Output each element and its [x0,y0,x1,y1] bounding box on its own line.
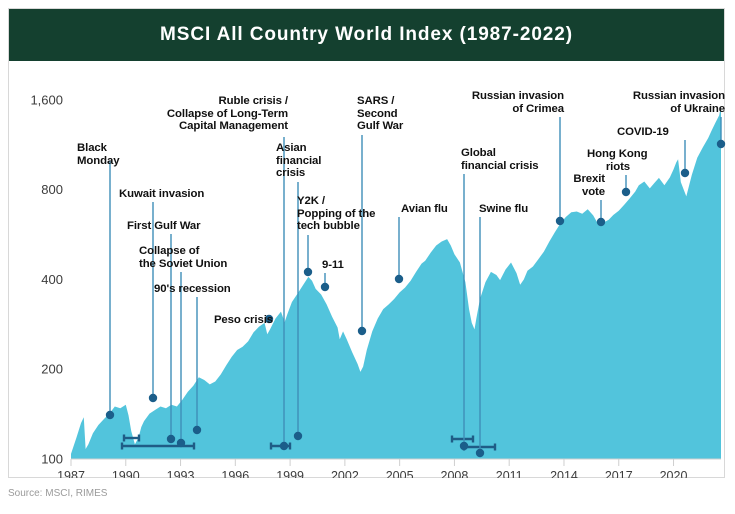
chart-card: MSCI All Country World Index (1987-2022)… [8,8,725,478]
annotation-label: 9-11 [322,259,344,272]
annotation-label: Kuwait invasion [119,188,204,201]
x-tick-label: 1996 [221,469,249,478]
x-tick-label: 2005 [386,469,414,478]
annotation-label: Collapse of the Soviet Union [139,245,227,270]
annotation-label: 90's recession [154,283,231,296]
event-marker-dot[interactable] [193,426,201,434]
x-tick-label: 2008 [441,469,469,478]
x-tick-label: 2011 [496,469,523,478]
x-tick-label: 1987 [57,469,85,478]
event-marker-dot[interactable] [167,435,175,443]
x-axis-tick-labels: 1987199019931996199920022005200820112014… [57,469,687,478]
event-marker-dot[interactable] [622,188,630,196]
event-marker-dot[interactable] [717,140,725,148]
annotation-label: Russian invasion of Crimea [449,90,564,115]
x-tick-label: 1993 [167,469,195,478]
chart-page: MSCI All Country World Index (1987-2022)… [0,0,735,514]
event-marker-dot[interactable] [597,218,605,226]
y-tick-label: 200 [41,362,63,377]
annotation-label: Asian financial crisis [276,142,321,180]
annotation-label: Avian flu [401,203,448,216]
event-marker-dot[interactable] [149,394,157,402]
annotation-label: Black Monday [77,142,119,167]
annotation-label: Y2K / Popping of the tech bubble [297,195,375,233]
event-marker-dot[interactable] [280,442,288,450]
event-marker-dot[interactable] [177,439,185,447]
annotation-label: Hong Kong riots [587,148,630,173]
event-marker-dot[interactable] [304,268,312,276]
event-marker-dot[interactable] [681,169,689,177]
x-axis-line [71,459,721,466]
annotation-label: COVID-19 [617,126,669,139]
y-axis-tick-labels: 1,600800400200100 [30,92,63,466]
chart-title-bar: MSCI All Country World Index (1987-2022) [9,9,724,61]
x-tick-label: 2002 [331,469,359,478]
annotation-label: SARS / Second Gulf War [357,95,403,133]
event-marker-dot[interactable] [294,432,302,440]
event-marker-dot[interactable] [395,275,403,283]
y-tick-label: 400 [41,272,63,287]
x-tick-label: 1999 [276,469,304,478]
event-marker-dot[interactable] [556,217,564,225]
event-marker-dot[interactable] [358,327,366,335]
event-marker-dot[interactable] [321,283,329,291]
x-tick-label: 2020 [660,469,688,478]
annotation-label: Swine flu [479,203,528,216]
y-tick-label: 1,600 [30,92,63,107]
x-tick-label: 1990 [112,469,140,478]
annotation-label: Russian invasion of Ukraine [610,90,725,115]
annotation-label: Brexit vote [565,173,605,198]
y-tick-label: 800 [41,182,63,197]
annotation-label: First Gulf War [127,220,200,233]
x-tick-label: 2017 [605,469,633,478]
y-tick-label: 100 [41,452,63,467]
x-tick-label: 2014 [550,469,578,478]
event-marker-dot[interactable] [476,449,484,457]
event-marker-dot[interactable] [460,442,468,450]
annotation-label: Peso crisis [199,314,273,327]
page-title: MSCI All Country World Index (1987-2022) [160,24,573,46]
annotation-label: Global financial crisis [461,147,539,172]
event-marker-dot[interactable] [106,411,114,419]
annotation-label: Ruble crisis / Collapse of Long-Term Cap… [132,95,288,133]
source-note: Source: MSCI, RIMES [8,488,107,499]
plot-area: 1,600800400200100 1987199019931996199920… [9,61,726,478]
